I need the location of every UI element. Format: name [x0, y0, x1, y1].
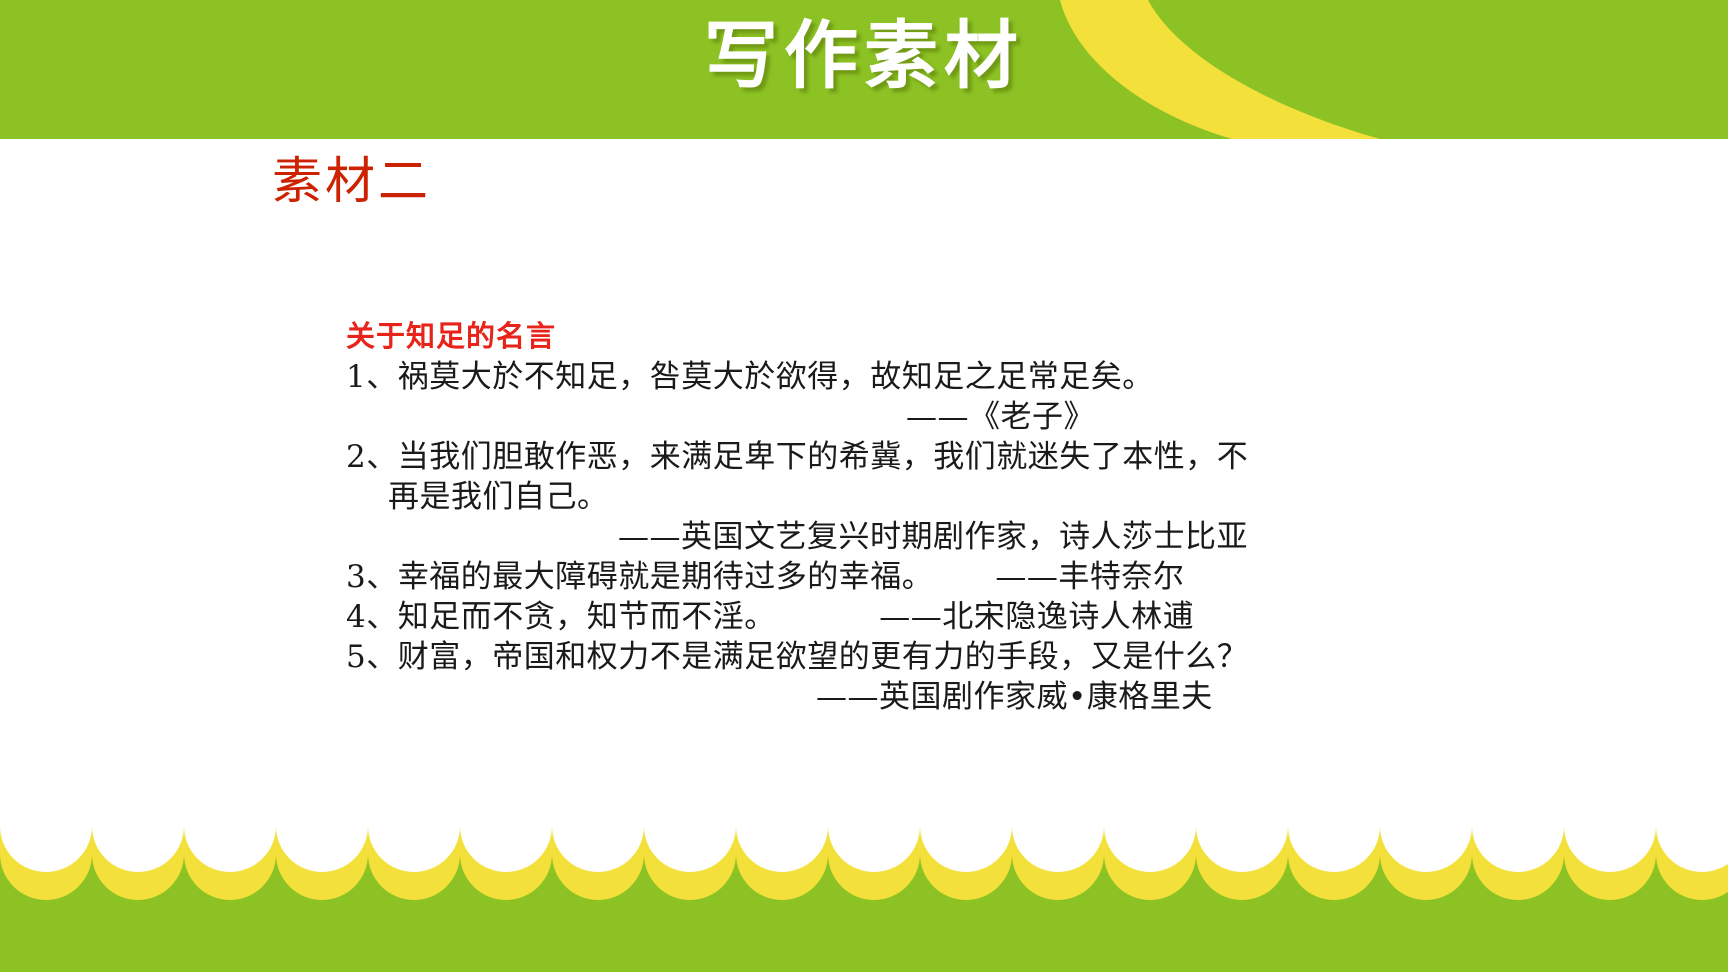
quote-5: 5、财富，帝国和权力不是满足欲望的更有力的手段，又是什么？: [346, 638, 1356, 678]
content-block: 关于知足的名言 1、祸莫大於不知足，咎莫大於欲得，故知足之足常足矣。——《老子》…: [346, 318, 1356, 718]
quote-4: 4、知足而不贪，知节而不淫。 ——北宋隐逸诗人林逋: [346, 598, 1356, 638]
quote-lines-container: 1、祸莫大於不知足，咎莫大於欲得，故知足之足常足矣。——《老子》2、当我们胆敢作…: [346, 358, 1356, 718]
section-title: 素材二: [272, 141, 431, 213]
attrib-5: ——英国剧作家威•康格里夫: [346, 678, 1356, 718]
attrib-1: ——《老子》: [346, 398, 1356, 438]
quote-3: 3、幸福的最大障碍就是期待过多的幸福。 ——丰特奈尔: [346, 558, 1356, 598]
slide-header-banner: 写作素材: [0, 0, 1728, 139]
bottom-scallop-decoration: [0, 762, 1728, 972]
quote-2a: 2、当我们胆敢作恶，来满足卑下的希冀，我们就迷失了本性，不: [346, 438, 1356, 478]
quote-list-heading: 关于知足的名言: [346, 318, 1356, 354]
quote-1: 1、祸莫大於不知足，咎莫大於欲得，故知足之足常足矣。: [346, 358, 1356, 398]
attrib-2: ——英国文艺复兴时期剧作家，诗人莎士比亚: [346, 518, 1356, 558]
quote-2b: 再是我们自己。: [346, 478, 1356, 518]
scallop-svg: [0, 762, 1728, 972]
page-title: 写作素材: [0, 14, 1728, 99]
